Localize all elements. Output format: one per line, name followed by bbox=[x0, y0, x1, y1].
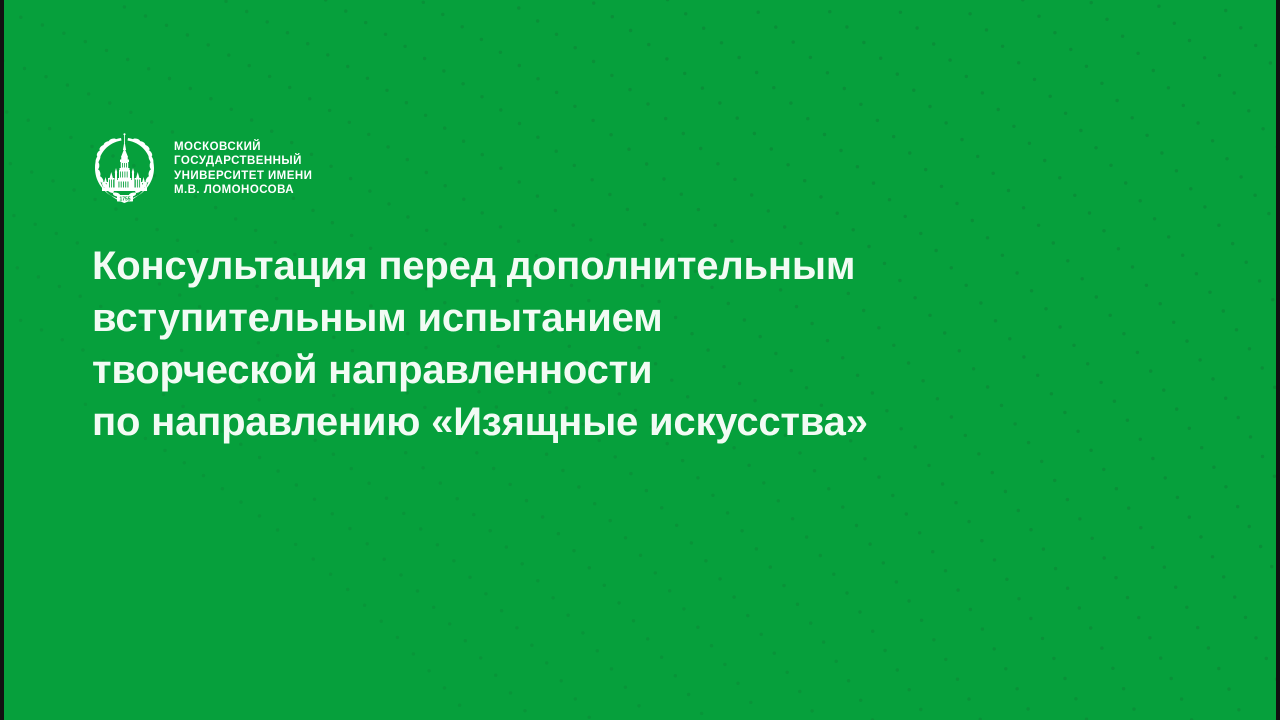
left-edge-bar bbox=[0, 0, 4, 720]
title-line-2: вступительным испытанием bbox=[92, 292, 1092, 344]
wordmark-line-2: ГОСУДАРСТВЕННЫЙ bbox=[174, 155, 312, 169]
page-title: Консультация перед дополнительным вступи… bbox=[92, 240, 1092, 448]
title-line-3: творческой направленности bbox=[92, 344, 1092, 396]
msu-wordmark: МОСКОВСКИЙ ГОСУДАРСТВЕННЫЙ УНИВЕРСИТЕТ И… bbox=[174, 139, 312, 198]
msu-logo: 1755 МОСКОВСКИЙ ГОСУДАРСТВЕННЫЙ УНИВЕРСИ… bbox=[88, 128, 312, 208]
title-line-1: Консультация перед дополнительным bbox=[92, 240, 1092, 292]
wordmark-line-3: УНИВЕРСИТЕТ ИМЕНИ bbox=[174, 170, 312, 184]
title-line-4: по направлению «Изящные искусства» bbox=[92, 396, 1092, 448]
right-edge-bar bbox=[1276, 0, 1280, 720]
emblem-year-text: 1755 bbox=[119, 196, 130, 202]
wordmark-line-1: МОСКОВСКИЙ bbox=[174, 141, 312, 155]
msu-emblem-icon: 1755 bbox=[88, 128, 162, 208]
title-slide: 1755 МОСКОВСКИЙ ГОСУДАРСТВЕННЫЙ УНИВЕРСИ… bbox=[0, 0, 1280, 720]
wordmark-line-4: М.В. ЛОМОНОСОВА bbox=[174, 184, 312, 198]
